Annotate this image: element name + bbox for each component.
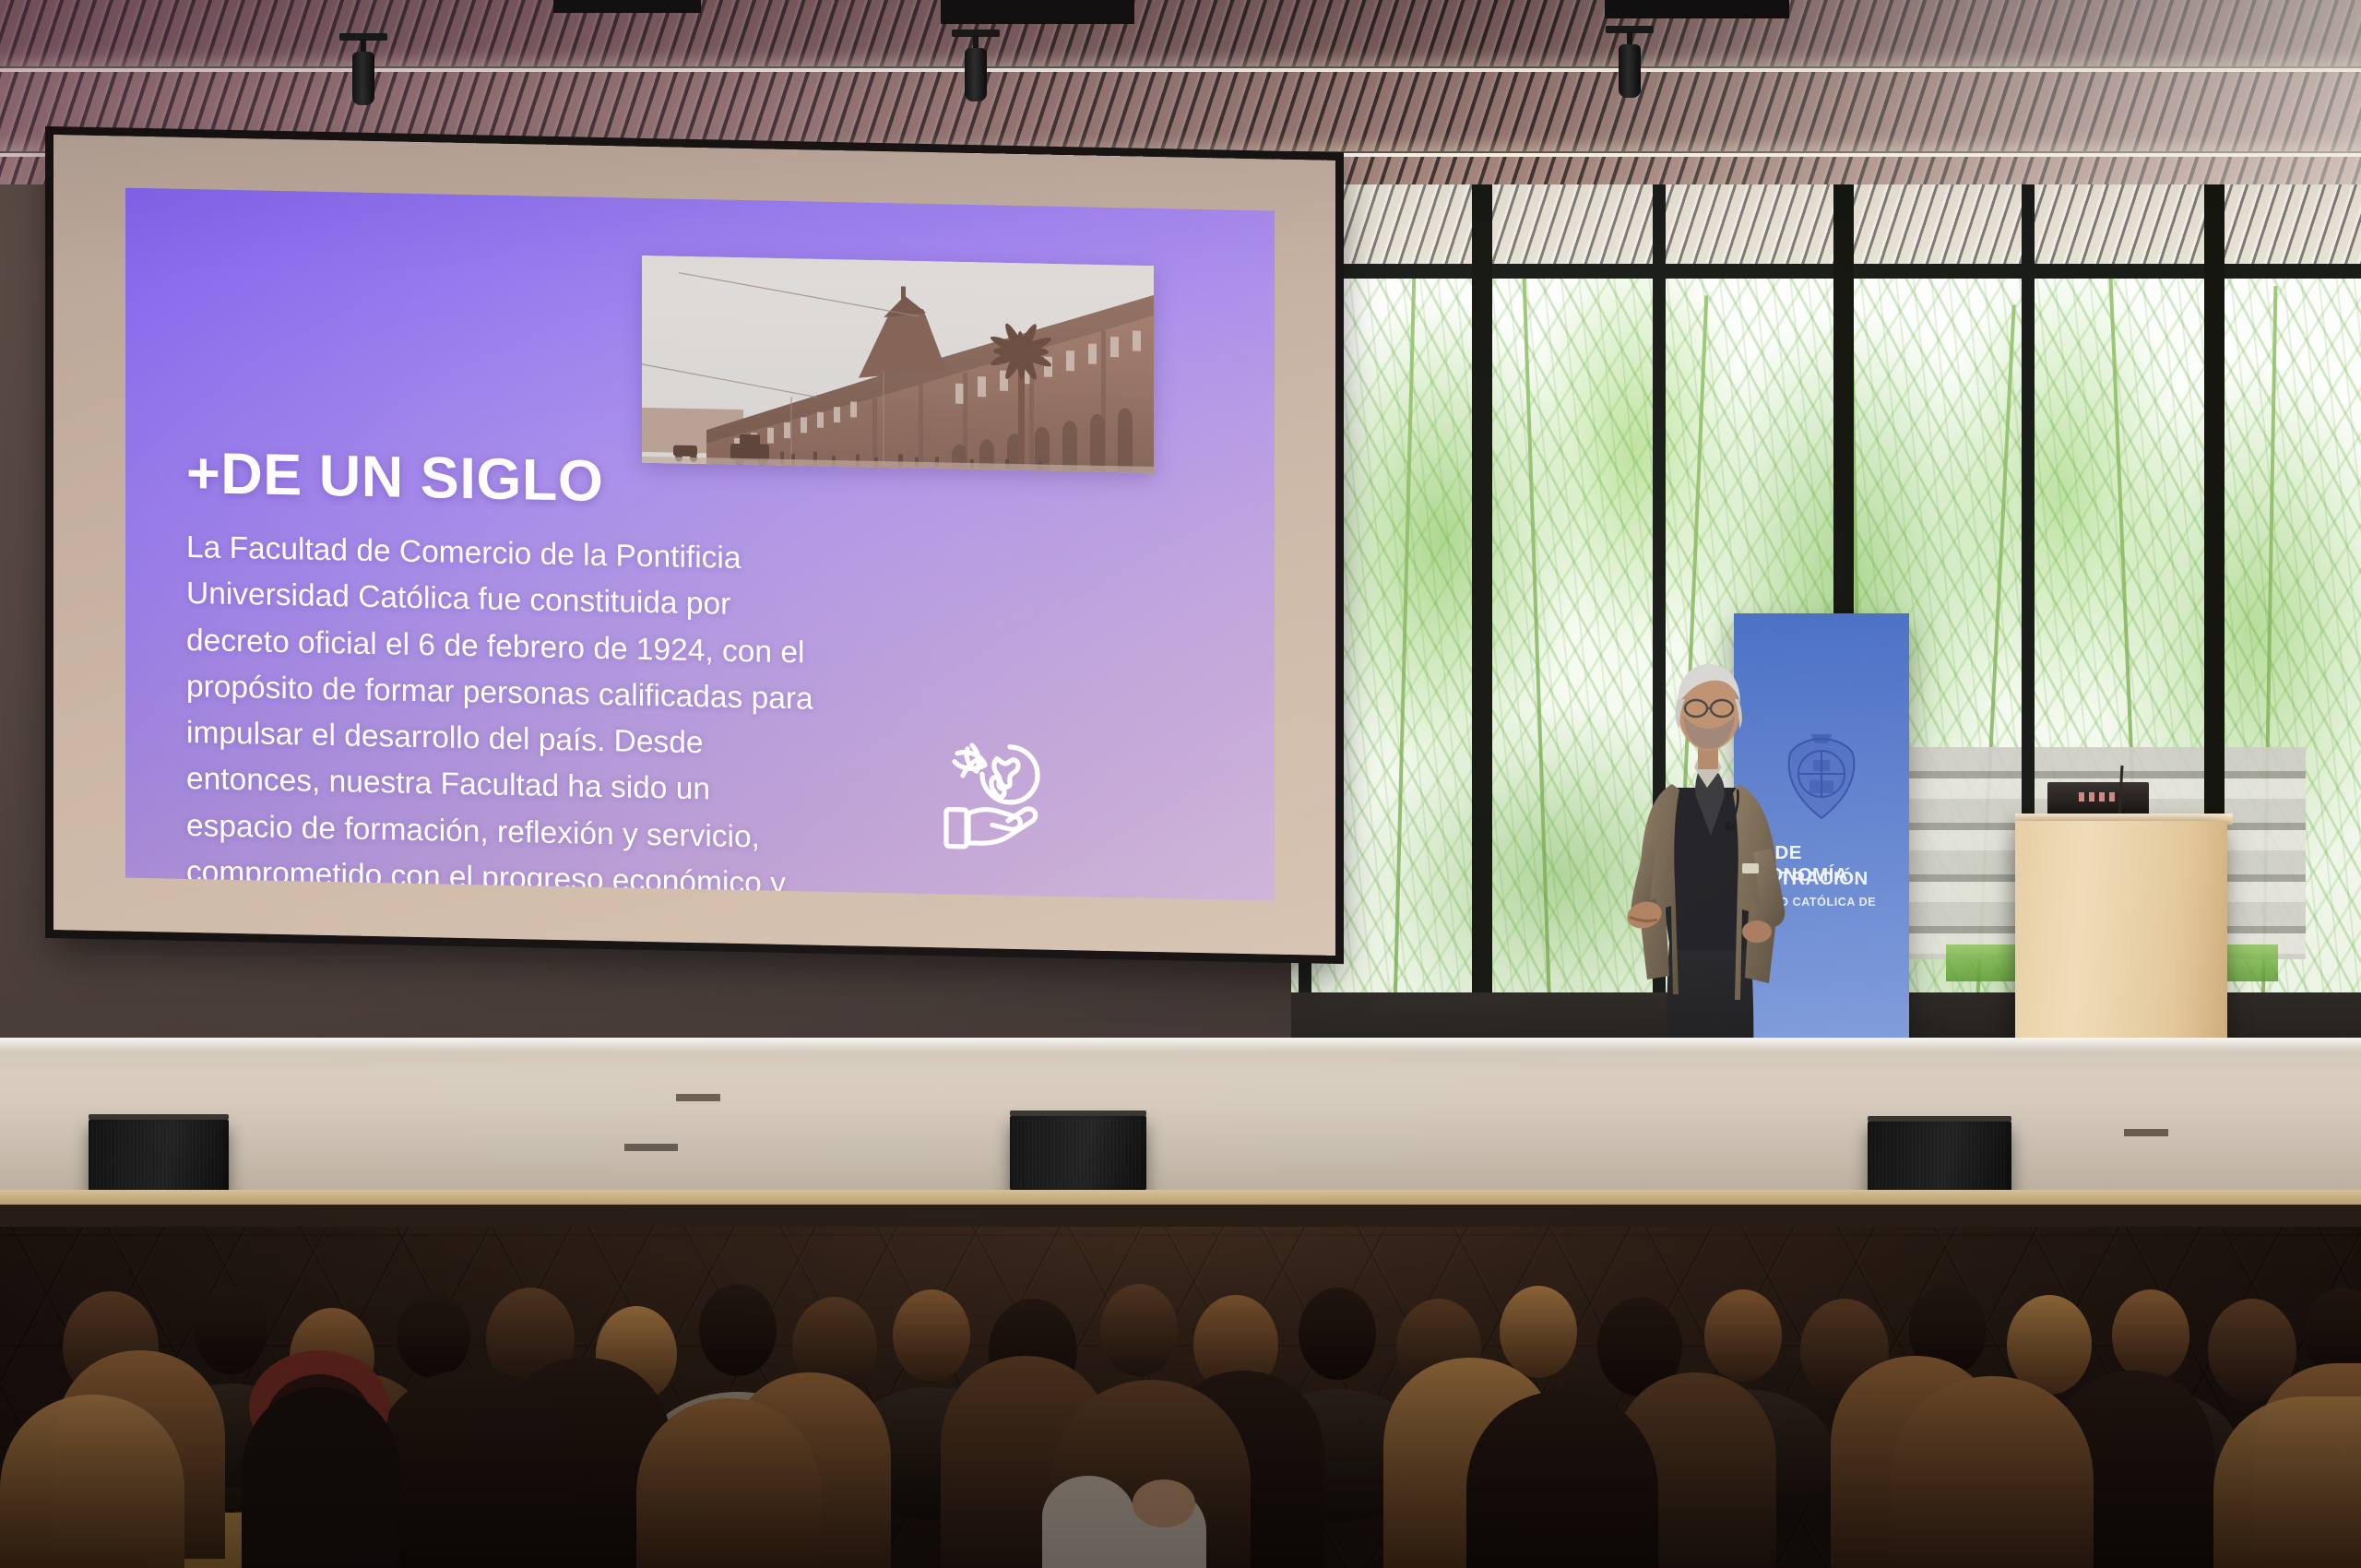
auditorium-scene: +DE UN SIGLO La Facultad de Comercio de …: [0, 0, 2361, 1568]
window-transom: [1291, 264, 2361, 279]
monitor-top-lip: [89, 1114, 229, 1120]
spotlight-housing: [1619, 44, 1641, 98]
spotlight-housing: [352, 52, 374, 105]
window-mullion: [1472, 184, 1492, 1070]
monitor-top-lip: [1868, 1116, 2011, 1122]
slide-title: +DE UN SIGLO: [186, 440, 603, 515]
stage-monitor-speaker: [1868, 1121, 2011, 1200]
podium-device-indicator: [2079, 792, 2121, 802]
stage-floor-highlight: [0, 1038, 2361, 1052]
stage-floor-box: [2112, 1127, 2180, 1138]
historic-building-photo: [642, 255, 1154, 473]
ceiling-vent: [553, 0, 701, 13]
monitor-top-lip: [1010, 1111, 1146, 1116]
spotlight-housing: [965, 48, 987, 101]
stage-floor-box: [609, 1142, 694, 1153]
monitor-grille: [1014, 1119, 1143, 1187]
ceiling-vent: [1605, 0, 1789, 18]
hand-holding-globe-leaf-icon: [930, 730, 1068, 852]
projection-screen: +DE UN SIGLO La Facultad de Comercio de …: [53, 135, 1335, 956]
slide-body-text: La Facultad de Comercio de la Pontificia…: [186, 525, 823, 901]
monitor-grille: [1871, 1124, 2008, 1196]
podium-device: [2047, 782, 2149, 815]
stage-monitor-speaker: [89, 1119, 229, 1194]
seated-audience: [0, 1227, 2361, 1568]
exterior-soffit: [1291, 184, 2361, 269]
ceiling-vent: [941, 0, 1134, 24]
stage-floor-box: [664, 1092, 732, 1103]
stage-monitor-speaker: [1010, 1115, 1146, 1191]
monitor-grille: [92, 1123, 225, 1191]
presentation-slide: +DE UN SIGLO La Facultad de Comercio de …: [125, 188, 1275, 901]
